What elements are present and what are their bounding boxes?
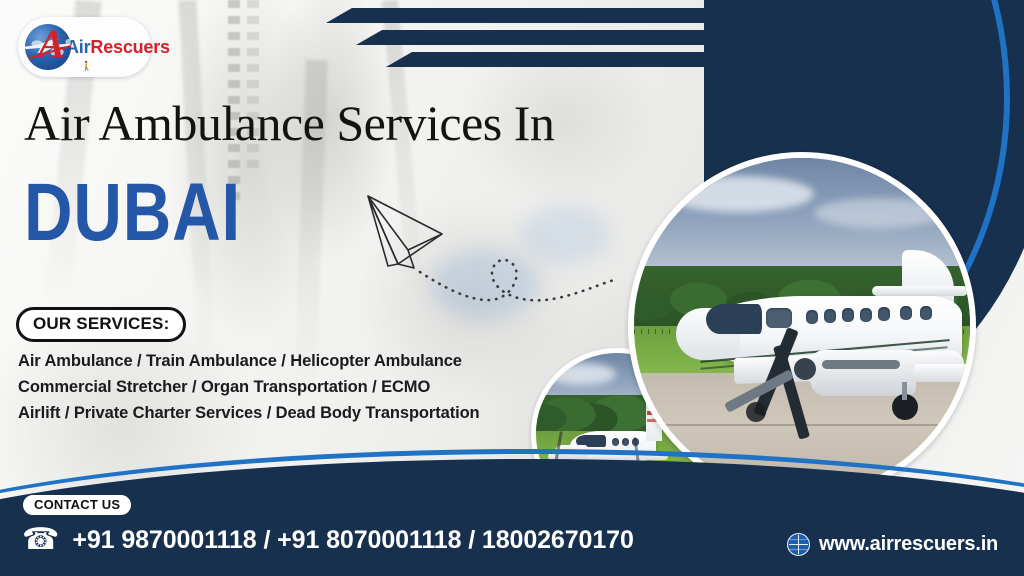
- cloud: [664, 176, 814, 212]
- propeller-hub: [794, 358, 816, 380]
- contact-badge: CONTACT US: [22, 494, 132, 516]
- globe-plane-logo-icon: A: [22, 21, 74, 73]
- aircraft-window: [842, 308, 854, 322]
- aircraft-window: [878, 307, 890, 321]
- services-list: Air Ambulance / Train Ambulance / Helico…: [18, 348, 538, 426]
- aircraft-window: [766, 308, 792, 328]
- page-title: Air Ambulance Services In: [24, 98, 554, 148]
- cloud: [814, 198, 944, 228]
- city-title: DUBAI: [24, 172, 241, 254]
- cloud: [546, 363, 616, 385]
- aircraft-window: [900, 306, 912, 320]
- landing-gear-strut: [902, 382, 907, 400]
- logo-letter-a: A: [38, 24, 65, 64]
- website-url[interactable]: www.airrescuers.in: [819, 533, 998, 556]
- aircraft-window: [920, 306, 932, 320]
- website-row[interactable]: www.airrescuers.in: [787, 533, 998, 556]
- services-badge: OUR SERVICES:: [16, 307, 186, 342]
- aircraft-horizontal-stabilizer: [872, 286, 968, 296]
- aircraft-window: [860, 308, 872, 322]
- logo-wordmark: AirRescuers: [66, 37, 170, 58]
- engine-accent: [822, 360, 900, 369]
- service-line: Air Ambulance / Train Ambulance / Helico…: [18, 348, 538, 374]
- service-line: Airlift / Private Charter Services / Dea…: [18, 400, 538, 426]
- aircraft-cockpit: [706, 304, 762, 334]
- globe-icon: [787, 533, 810, 556]
- aircraft-window: [806, 310, 818, 324]
- aircraft-window: [824, 309, 836, 323]
- brand-logo[interactable]: A AirRescuers 🚶: [18, 17, 151, 77]
- footer-fill: [0, 459, 1024, 576]
- telephone-icon: ☎: [22, 525, 59, 555]
- logo-word-rescuers: Rescuers: [90, 37, 169, 57]
- aircraft-landing-gear: [746, 402, 766, 422]
- aircraft-wingtip: [914, 364, 970, 382]
- phone-row[interactable]: ☎ +91 9870001118 / +91 8070001118 / 1800…: [22, 525, 634, 555]
- aircraft-engine: [810, 350, 916, 396]
- paper-plane-icon: [362, 188, 632, 328]
- promo-banner: A AirRescuers 🚶 Air Ambulance Services I…: [0, 0, 1024, 576]
- service-line: Commercial Stretcher / Organ Transportat…: [18, 374, 538, 400]
- phone-numbers[interactable]: +91 9870001118 / +91 8070001118 / 180026…: [72, 526, 633, 555]
- logo-person-icon: 🚶: [81, 61, 92, 72]
